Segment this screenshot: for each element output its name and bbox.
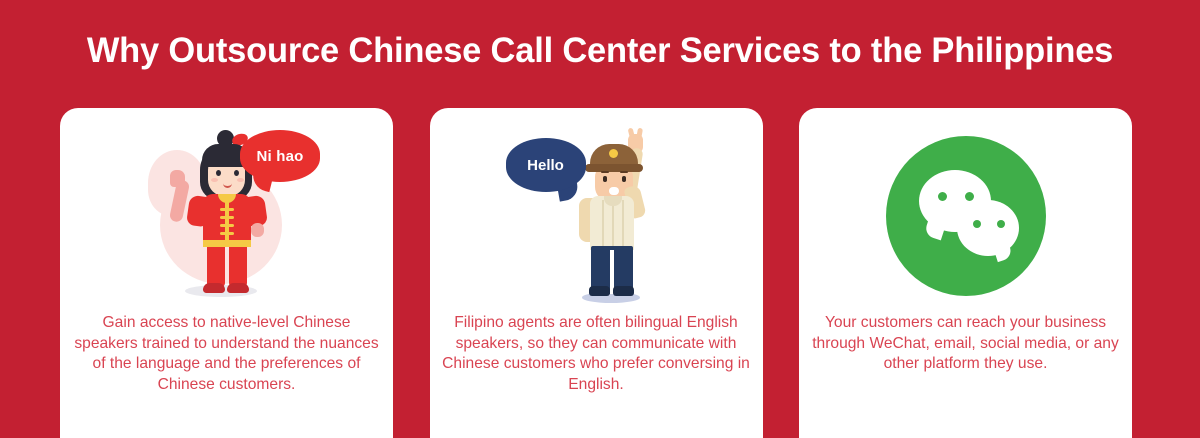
- page-title: Why Outsource Chinese Call Center Servic…: [9, 30, 1191, 72]
- illustration-filipino-agent-waving: Hello: [430, 108, 763, 308]
- agent-eye-right: [622, 176, 626, 182]
- wechat-dot: [973, 220, 981, 228]
- agent-shirt-pleat: [622, 200, 624, 246]
- card-caption: Filipino agents are often bilingual Engl…: [442, 313, 751, 395]
- wechat-dot: [997, 220, 1005, 228]
- speech-bubble-ni-hao: Ni hao: [240, 130, 320, 182]
- agent-eye-left: [603, 176, 607, 182]
- girl-shoe-left: [203, 283, 225, 293]
- card-caption: Gain access to native-level Chinese spea…: [72, 313, 381, 395]
- girl-hand-right: [251, 223, 264, 237]
- girl-cheek-left: [211, 178, 218, 182]
- agent-mouth: [609, 187, 619, 195]
- benefit-card-multichannel-reach: Your customers can reach your business t…: [799, 108, 1132, 438]
- girl-frog-button: [220, 216, 234, 219]
- benefit-card-native-chinese-speakers: Ni hao Gain access to native-level Chine…: [60, 108, 393, 438]
- girl-shoe-right: [227, 283, 249, 293]
- speech-bubble-text: Ni hao: [256, 148, 303, 165]
- agent-brow-left: [601, 171, 609, 173]
- girl-leg-left: [207, 247, 225, 287]
- agent-shirt-pleat: [612, 200, 614, 246]
- girl-placket: [225, 200, 229, 242]
- girl-frog-button: [220, 224, 234, 227]
- card-caption: Your customers can reach your business t…: [811, 313, 1120, 375]
- girl-belt: [203, 240, 251, 247]
- agent-shoe-right: [613, 286, 634, 296]
- girl-eye-left: [216, 170, 221, 176]
- illustration-chinese-girl-waving: Ni hao: [60, 108, 393, 308]
- speech-bubble-text: Hello: [527, 157, 564, 174]
- salakot-hat-brim: [585, 164, 643, 172]
- illustration-wechat-logo: [799, 108, 1132, 308]
- wechat-dot: [965, 192, 974, 201]
- girl-raised-hand: [170, 170, 185, 187]
- benefit-cards-row: Ni hao Gain access to native-level Chine…: [60, 108, 1132, 438]
- salakot-hat-emblem: [609, 149, 618, 158]
- girl-leg-right: [229, 247, 247, 287]
- girl-eye-right: [234, 170, 239, 176]
- girl-frog-button: [220, 232, 234, 235]
- agent-brow-right: [620, 171, 628, 173]
- girl-frog-button: [220, 208, 234, 211]
- wechat-dot: [938, 192, 947, 201]
- infographic-banner: Why Outsource Chinese Call Center Servic…: [0, 0, 1200, 429]
- wechat-icon: [886, 136, 1046, 296]
- agent-shoe-left: [589, 286, 610, 296]
- benefit-card-bilingual-filipino-agents: Hello Filipino agents are often bilingua…: [430, 108, 763, 438]
- girl-cheek-right: [237, 178, 244, 182]
- speech-bubble-hello: Hello: [506, 138, 586, 192]
- agent-shirt-pleat: [602, 200, 604, 246]
